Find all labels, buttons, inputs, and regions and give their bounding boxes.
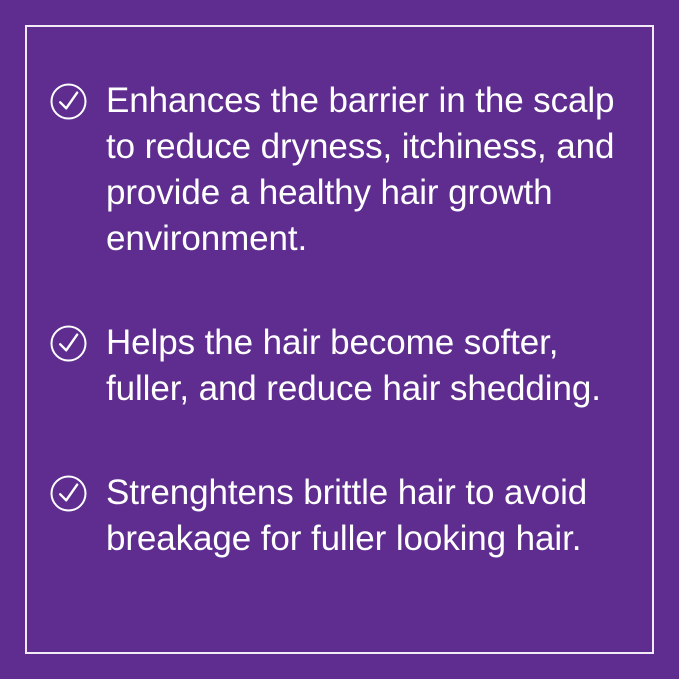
check-circle-icon bbox=[50, 475, 87, 512]
list-item: Enhances the barrier in the scalp to red… bbox=[50, 78, 649, 262]
benefits-card: Enhances the barrier in the scalp to red… bbox=[0, 0, 679, 679]
list-item: Strenghtens brittle hair to avoid breaka… bbox=[50, 470, 649, 562]
benefit-text: Strenghtens brittle hair to avoid breaka… bbox=[106, 470, 649, 562]
benefit-text: Enhances the barrier in the scalp to red… bbox=[106, 78, 649, 262]
list-item: Helps the hair become softer, fuller, an… bbox=[50, 320, 649, 412]
check-circle-icon bbox=[50, 83, 87, 120]
benefits-list: Enhances the barrier in the scalp to red… bbox=[50, 78, 649, 562]
benefit-text: Helps the hair become softer, fuller, an… bbox=[106, 320, 649, 412]
check-circle-icon bbox=[50, 325, 87, 362]
